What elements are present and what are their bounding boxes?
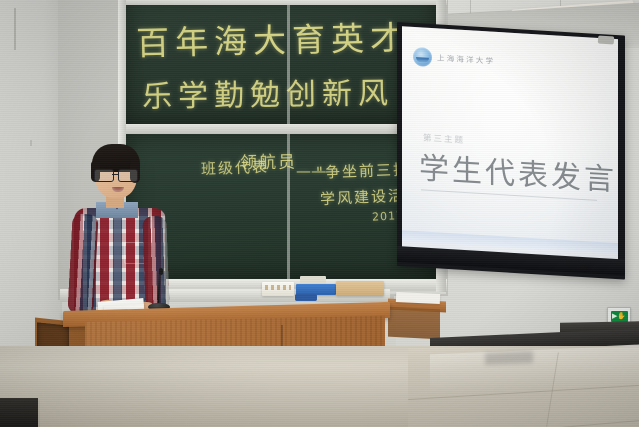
classroom-photo-scene: 百年海大育英才 乐学勤勉创新风 班级代表 领航员 —— "争坐前三排" 学风建设… [0,0,639,427]
blackboard-top-rail [121,0,447,5]
projection-screen: 上海海洋大学 第三主题 学生代表发言 [397,22,625,280]
glasses-lens-right [118,169,138,182]
exit-running-man-icon: ▶✋ [612,313,626,320]
white-chalk-box [262,282,294,296]
screen-roller-bracket [598,35,615,44]
tan-chalk-box [336,281,384,296]
right-arm [142,216,169,313]
board-eraser [295,294,317,301]
university-name-text: 上海海洋大学 [437,52,495,66]
left-arm [67,213,98,314]
glasses-bridge [112,174,118,175]
glasses-icon [93,169,139,181]
wall-scuff-mark [14,8,16,50]
speaker-person [62,146,180,321]
chalk-label-navigator: 领航员 [240,152,297,176]
floor-reflection-spot [485,351,533,365]
microphone-head-icon [159,268,163,275]
papers-on-counter [396,292,440,304]
glasses-lens-left [94,169,114,182]
side-counter-body [388,307,440,340]
exit-sign-face: ▶✋ [611,311,628,322]
chalk-slogan-line-2: 乐学勤勉创新风 [142,68,395,116]
chalk-slogan-line-1: 百年海大育英才 [136,11,410,65]
baseboard-left [0,398,38,427]
university-emblem-icon [413,47,432,67]
wall-scuff-mark-2 [30,140,32,146]
